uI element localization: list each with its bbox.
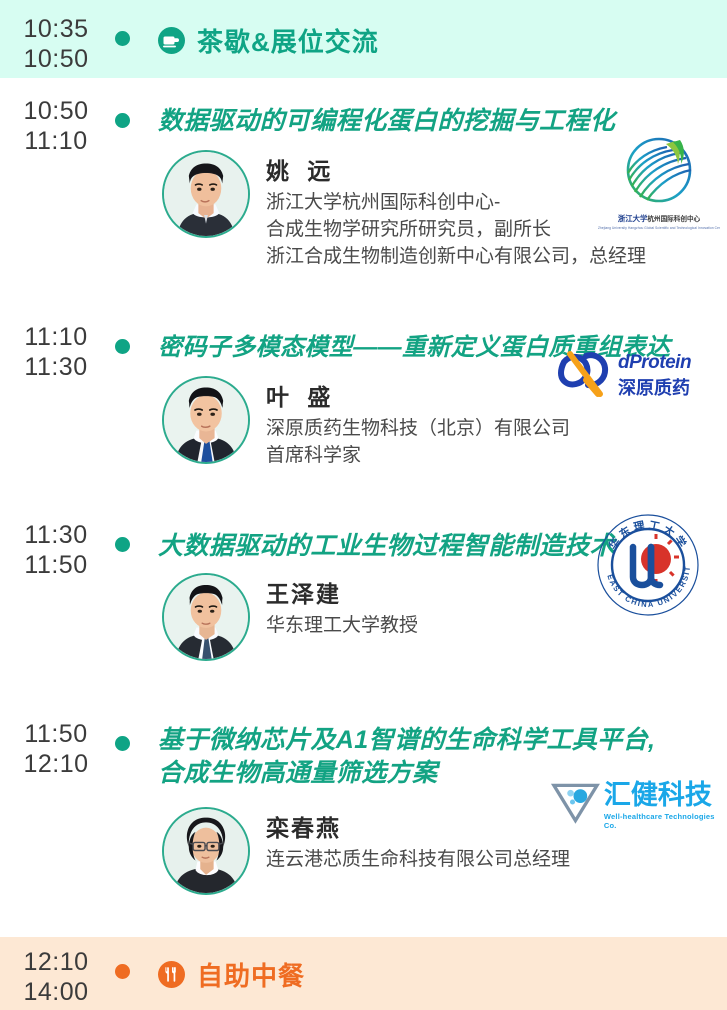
meal-label: 自助中餐 [197, 956, 305, 993]
time-start: 12:10 [0, 947, 112, 977]
avatar [162, 807, 250, 895]
timeline-dot [115, 736, 130, 751]
time-range-meal-lunch: 12:10 14:00 [0, 947, 112, 1007]
avatar [162, 150, 250, 238]
organization-logo: dProtein 深原质药 [556, 350, 691, 402]
agenda-row-session-1: 10:50 11:10 数据驱动的可编程化蛋白的挖掘与工程化 [0, 78, 727, 308]
time-start: 11:10 [0, 322, 112, 352]
speaker-text: 姚 远 浙江大学杭州国际科创中心- 合成生物学研究所研究员，副所长 浙江合成生物… [266, 150, 646, 270]
speaker-portrait-wang-zejian [164, 575, 248, 659]
avatar [162, 376, 250, 464]
time-end: 14:00 [0, 977, 112, 1007]
speaker-block: 叶 盛 深原质药生物科技（北京）有限公司 首席科学家 [162, 376, 570, 469]
speaker-text: 栾春燕 连云港芯质生命科技有限公司总经理 [266, 807, 570, 873]
time-end: 11:30 [0, 352, 112, 382]
dprotein-monogram-icon [556, 350, 614, 402]
logo-text-cn: 汇健科技 [604, 773, 727, 812]
speaker-affiliation: 浙江大学杭州国际科创中心- 合成生物学研究所研究员，副所长 浙江合成生物制造创新… [266, 189, 646, 270]
timeline-dot [115, 964, 130, 979]
session-title: 大数据驱动的工业生物过程智能制造技术 [158, 531, 615, 562]
time-start: 10:35 [0, 14, 112, 44]
time-end: 11:50 [0, 550, 112, 580]
speaker-portrait-ye-sheng [164, 378, 248, 462]
organization-logo: 浙江大学杭州国际科创中心 Zhejiang University Hangzho… [598, 136, 720, 230]
agenda-row-break-tea: 10:35 10:50 茶歇&展位交流 [0, 0, 727, 78]
zhejiang-university-globe-icon [611, 136, 707, 206]
agenda-row-session-3: 11:30 11:50 大数据驱动的工业生物过程智能制造技术 [0, 508, 727, 703]
logo-text-en: Well-healthcare Technologies Co. [604, 812, 727, 830]
speaker-affiliation: 连云港芯质生命科技有限公司总经理 [266, 846, 570, 873]
time-end: 12:10 [0, 749, 112, 779]
speaker-block: 栾春燕 连云港芯质生命科技有限公司总经理 [162, 807, 570, 895]
speaker-name: 叶 盛 [266, 378, 570, 412]
meal-content: 自助中餐 [158, 956, 305, 993]
time-start: 10:50 [0, 96, 112, 126]
break-label: 茶歇&展位交流 [197, 22, 379, 59]
speaker-portrait-yao-yuan [164, 152, 248, 236]
avatar [162, 573, 250, 661]
fork-knife-icon [158, 961, 185, 988]
break-content: 茶歇&展位交流 [158, 22, 379, 59]
speaker-text: 王泽建 华东理工大学教授 [266, 573, 418, 639]
logo-text-en: dProtein [618, 352, 691, 374]
speaker-block: 姚 远 浙江大学杭州国际科创中心- 合成生物学研究所研究员，副所长 浙江合成生物… [162, 150, 646, 270]
timeline-dot [115, 31, 130, 46]
time-range-break-tea: 10:35 10:50 [0, 14, 112, 74]
speaker-affiliation: 华东理工大学教授 [266, 612, 418, 639]
speaker-name: 栾春燕 [266, 809, 570, 843]
conference-agenda-timeline: 10:35 10:50 茶歇&展位交流 10:50 11:10 数据驱动的可编程… [0, 0, 727, 1010]
speaker-name: 姚 远 [266, 152, 646, 186]
time-end: 11:10 [0, 126, 112, 156]
speaker-name: 王泽建 [266, 575, 418, 609]
ecust-seal-icon: EAST CHINA UNIVERSITY OF SCIENCE AND TEC… [596, 513, 700, 617]
agenda-row-meal-lunch: 12:10 14:00 自助中餐 [0, 937, 727, 1010]
speaker-portrait-luan-chunyan [164, 809, 248, 893]
time-range-session-3: 11:30 11:50 [0, 520, 112, 580]
time-start: 11:30 [0, 520, 112, 550]
time-range-session-1: 10:50 11:10 [0, 96, 112, 156]
timeline-dot [115, 537, 130, 552]
time-end: 10:50 [0, 44, 112, 74]
time-range-session-4: 11:50 12:10 [0, 719, 112, 779]
logo-text-cn-sub: 杭州国际科创中心 [647, 216, 700, 223]
well-healthcare-triangle-icon [550, 779, 601, 825]
speaker-text: 叶 盛 深原质药生物科技（北京）有限公司 首席科学家 [266, 376, 570, 469]
timeline-dot [115, 339, 130, 354]
agenda-row-session-4: 11:50 12:10 基于微纳芯片及A1智谱的生命科学工具平台, 合成生物高通… [0, 703, 727, 937]
organization-logo: EAST CHINA UNIVERSITY OF SCIENCE AND TEC… [596, 513, 700, 622]
session-title: 数据驱动的可编程化蛋白的挖掘与工程化 [158, 106, 615, 137]
timeline-dot [115, 113, 130, 128]
time-range-session-2: 11:10 11:30 [0, 322, 112, 382]
organization-logo: 汇健科技 Well-healthcare Technologies Co. [550, 773, 727, 830]
agenda-row-session-2: 11:10 11:30 密码子多模态模型——重新定义蛋白质重组表达 [0, 308, 727, 508]
logo-text-cn: 深原质药 [618, 374, 691, 400]
logo-text-cn: 浙江大学 [618, 214, 648, 223]
coffee-cup-icon [158, 27, 185, 54]
speaker-block: 王泽建 华东理工大学教授 [162, 573, 418, 661]
speaker-affiliation: 深原质药生物科技（北京）有限公司 首席科学家 [266, 415, 570, 469]
logo-text-en: Zhejiang University Hangzhou Global Scie… [598, 226, 720, 230]
time-start: 11:50 [0, 719, 112, 749]
